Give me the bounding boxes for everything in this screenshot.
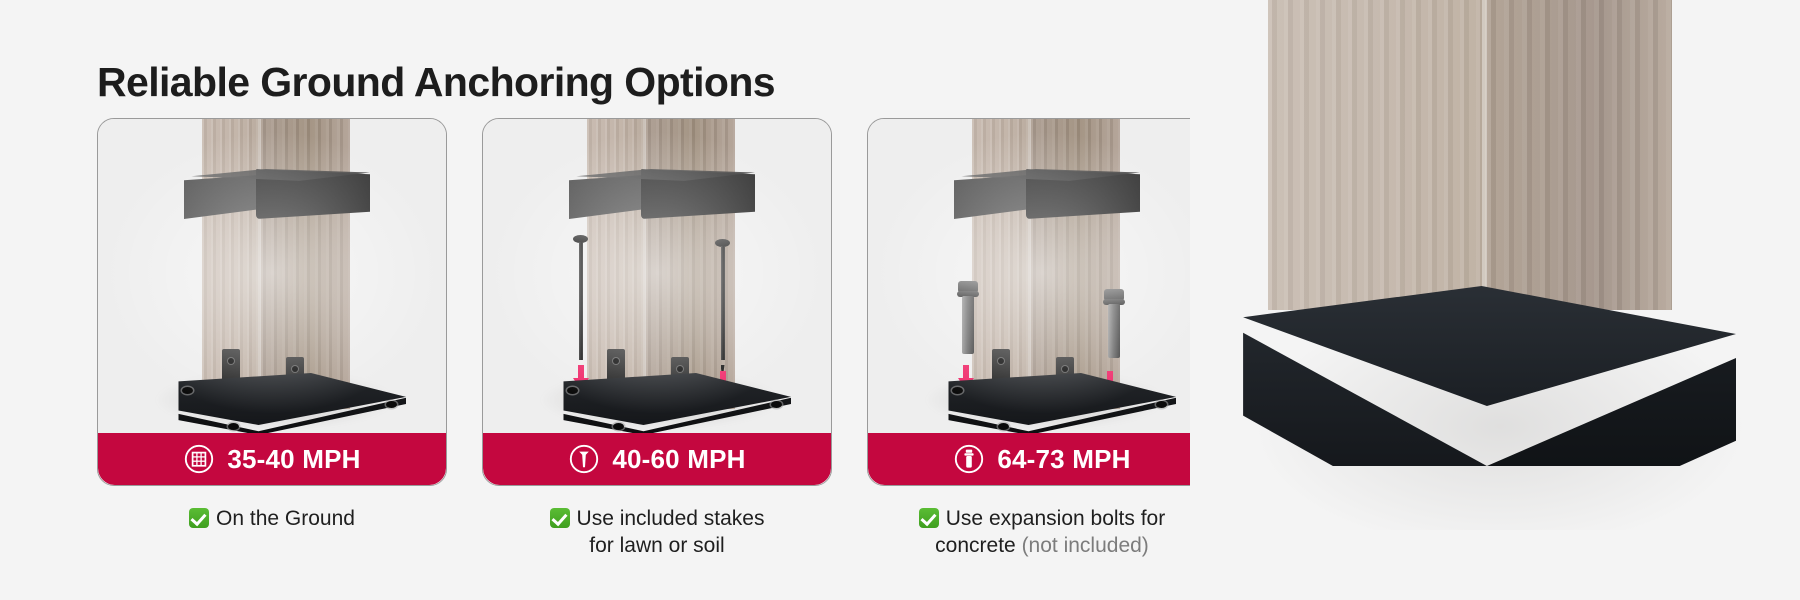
expansion-bolt-icon: [953, 443, 985, 475]
post-collar: [569, 167, 755, 223]
plate-hole: [386, 401, 397, 408]
option-caption: Use included stakes for lawn or soil: [483, 506, 831, 560]
option-caption: Use expansion bolts for concrete (not in…: [868, 506, 1216, 560]
ground-shadow: [535, 369, 785, 431]
checkmark-icon: [550, 508, 570, 528]
card-image-frame: 40-60 MPH: [482, 118, 832, 486]
caption-line-1: Use expansion bolts for: [946, 507, 1165, 530]
caption-line-1: Use included stakes: [577, 507, 765, 530]
option-caption: On the Ground: [98, 506, 446, 533]
ground-shadow: [920, 369, 1170, 431]
anchoring-option-card[interactable]: 35-40 MPH On the Ground: [98, 118, 446, 560]
base-plate: [541, 373, 791, 435]
wood-post: [972, 119, 1120, 409]
plate-hole: [952, 387, 963, 394]
wind-rating-badge: 35-40 MPH: [98, 433, 446, 485]
plate-hole: [228, 423, 239, 430]
page-title: Reliable Ground Anchoring Options: [97, 59, 775, 106]
caption-note: (not included): [1022, 534, 1149, 557]
wind-rating-label: 40-60 MPH: [612, 446, 745, 472]
banner-root: Reliable Ground Anchoring Options: [0, 0, 1800, 600]
wind-rating-badge: 64-73 MPH: [868, 433, 1216, 485]
post-bracket: [222, 349, 240, 387]
ground-stake: [719, 239, 726, 353]
caption-line-1: On the Ground: [216, 507, 355, 530]
wood-post: [202, 119, 350, 409]
stake-nail-icon: [568, 443, 600, 475]
ground-shadow: [150, 369, 400, 431]
ground-grid-icon: [183, 443, 215, 475]
plate-hole: [182, 387, 193, 394]
insert-arrow-icon: [713, 369, 733, 397]
anchoring-option-card[interactable]: 40-60 MPH Use included stakes for lawn o…: [483, 118, 831, 560]
post-bracket: [671, 357, 689, 395]
base-plate: [156, 373, 406, 435]
wind-rating-label: 35-40 MPH: [227, 446, 360, 472]
post-bracket: [1056, 357, 1074, 395]
card-image-frame: 64-73 MPH: [867, 118, 1217, 486]
wind-rating-badge: 40-60 MPH: [483, 433, 831, 485]
hero-post-base-image: [1190, 0, 1800, 600]
plate-hole: [771, 401, 782, 408]
anchoring-options-list: 35-40 MPH On the Ground: [98, 118, 1216, 560]
wind-rating-label: 64-73 MPH: [997, 446, 1130, 472]
plate-hole: [613, 423, 624, 430]
post-photo-with-stakes: [483, 119, 831, 485]
ground-stake: [577, 235, 584, 353]
base-plate: [926, 373, 1176, 435]
expansion-bolt: [960, 281, 976, 341]
caption-line-2: concrete: [935, 534, 1021, 557]
insert-arrow-icon: [1100, 369, 1120, 397]
insert-arrow-icon: [571, 363, 591, 391]
post-collar: [954, 167, 1140, 223]
hero-base-skirt: [1206, 286, 1736, 466]
expansion-bolt: [1106, 289, 1122, 345]
anchoring-option-card[interactable]: 64-73 MPH Use expansion bolts for concre…: [868, 118, 1216, 560]
wood-post: [587, 119, 735, 409]
post-bracket: [992, 349, 1010, 387]
plate-hole: [567, 387, 578, 394]
post-bracket: [286, 357, 304, 395]
hero-wood-post: [1268, 0, 1672, 310]
caption-line-2: for lawn or soil: [589, 534, 724, 557]
post-photo-on-ground: [98, 119, 446, 485]
card-image-frame: 35-40 MPH: [97, 118, 447, 486]
post-collar: [184, 167, 370, 223]
plate-hole: [998, 423, 1009, 430]
post-bracket: [607, 349, 625, 387]
insert-arrow-icon: [956, 363, 976, 391]
post-photo-with-bolts: [868, 119, 1216, 485]
checkmark-icon: [919, 508, 939, 528]
checkmark-icon: [189, 508, 209, 528]
plate-hole: [1156, 401, 1167, 408]
